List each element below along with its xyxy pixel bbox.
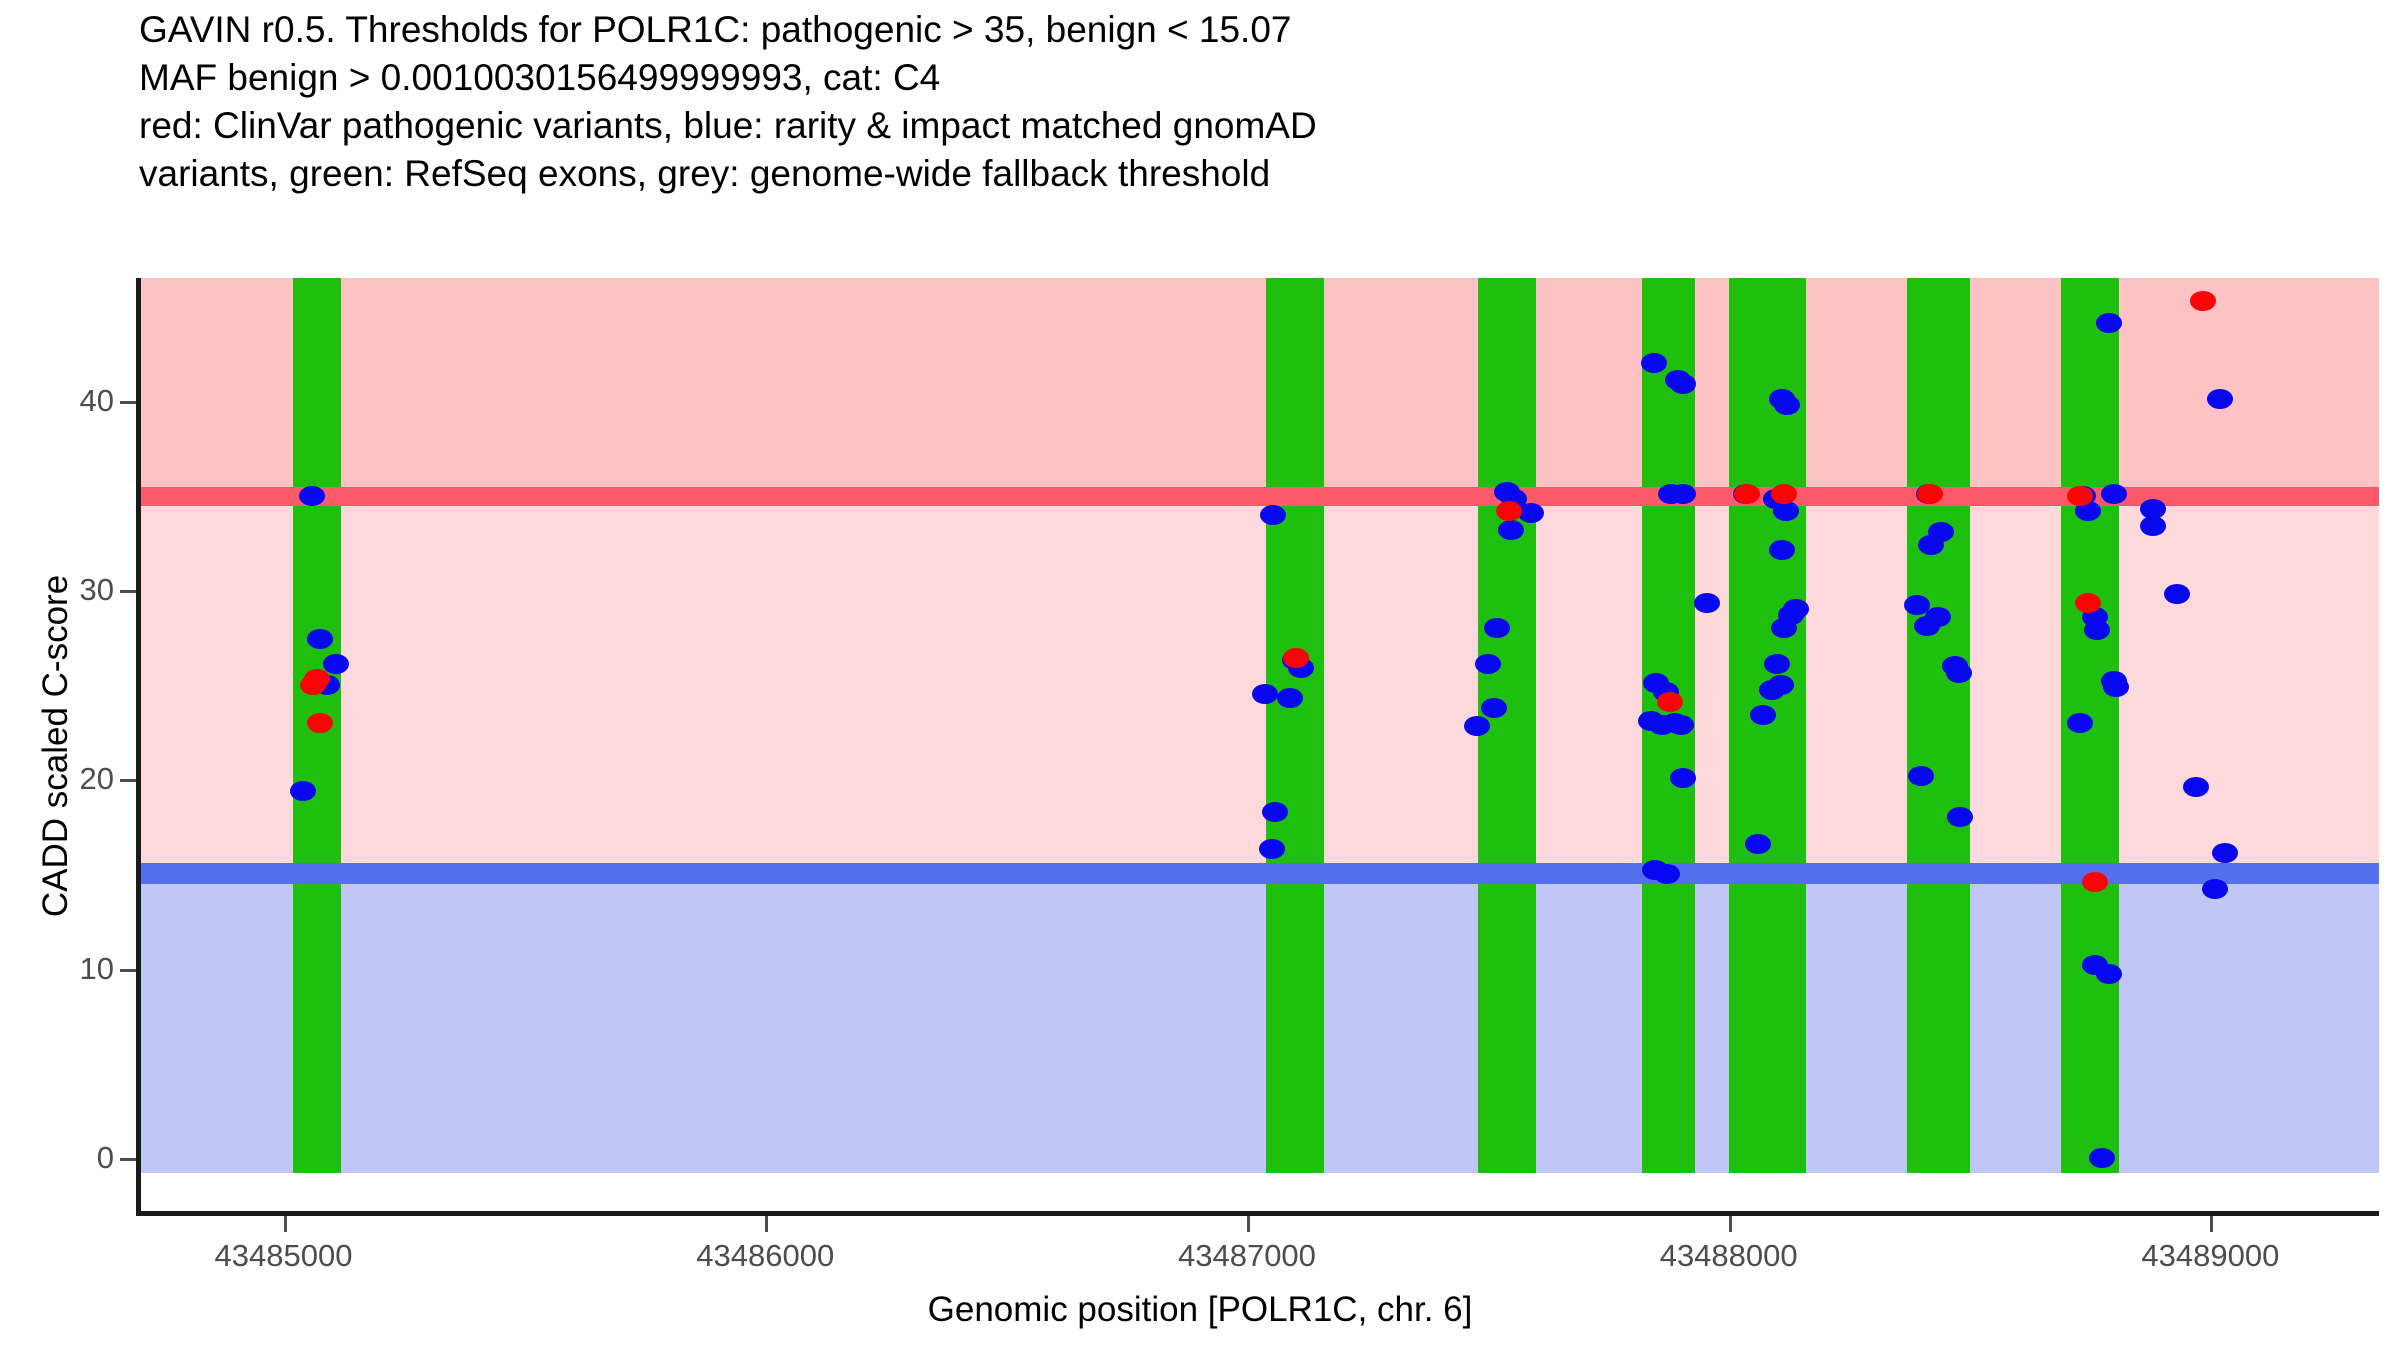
gnomad-variant-point [307, 629, 333, 649]
x-axis-title: Genomic position [POLR1C, chr. 6] [0, 1290, 2400, 1330]
clinvar-pathogenic-point [1734, 484, 1760, 504]
benign-threshold-line [139, 863, 2379, 884]
clinvar-pathogenic-point [2067, 486, 2093, 506]
x-axis-tick-label: 43488000 [1660, 1238, 1798, 1274]
clinvar-pathogenic-point [300, 675, 326, 695]
clinvar-pathogenic-point [2190, 291, 2216, 311]
gnomad-variant-point [2183, 777, 2209, 797]
y-axis-tick-label: 10 [80, 951, 114, 987]
gnomad-variant-point [1475, 654, 1501, 674]
gnomad-variant-point [2212, 843, 2238, 863]
clinvar-pathogenic-point [1771, 484, 1797, 504]
clinvar-pathogenic-point [307, 713, 333, 733]
chart-root: GAVIN r0.5. Thresholds for POLR1C: patho… [0, 0, 2400, 1350]
gnomad-variant-point [2164, 584, 2190, 604]
y-axis-tick-label: 20 [80, 761, 114, 797]
exon-band [1266, 278, 1324, 1173]
gnomad-variant-point [1481, 698, 1507, 718]
gnomad-variant-point [1908, 766, 1934, 786]
y-axis-tick [120, 1158, 136, 1161]
clinvar-pathogenic-point [2082, 872, 2108, 892]
x-axis-tick-label: 43489000 [2141, 1238, 2279, 1274]
gnomad-variant-point [2207, 389, 2233, 409]
x-axis-tick [1729, 1216, 1732, 1232]
gnomad-variant-point [1745, 834, 1771, 854]
y-axis-tick [120, 779, 136, 782]
pathogenic-threshold-line [139, 487, 2379, 506]
y-axis-tick [120, 401, 136, 404]
gnomad-variant-point [1764, 654, 1790, 674]
x-axis-tick-label: 43486000 [696, 1238, 834, 1274]
x-axis-tick-label: 43487000 [1178, 1238, 1316, 1274]
gnomad-variant-point [1654, 864, 1680, 884]
gnomad-variant-point [2103, 677, 2129, 697]
y-axis-tick-label: 0 [97, 1140, 114, 1176]
gnomad-variant-point [2089, 1148, 2115, 1168]
chart-title: GAVIN r0.5. Thresholds for POLR1C: patho… [139, 6, 2139, 198]
gnomad-variant-point [1670, 484, 1696, 504]
gnomad-variant-point [1773, 501, 1799, 521]
clinvar-pathogenic-point [2075, 593, 2101, 613]
plot-panel [139, 278, 2379, 1173]
gnomad-variant-point [1774, 395, 1800, 415]
gnomad-variant-point [1771, 618, 1797, 638]
y-axis-tick [120, 969, 136, 972]
gnomad-variant-point [2084, 620, 2110, 640]
title-line-1: GAVIN r0.5. Thresholds for POLR1C: patho… [139, 6, 2139, 54]
gnomad-variant-point [299, 486, 325, 506]
y-axis-tick-label: 40 [80, 383, 114, 419]
y-axis-title: CADD scaled C-score [36, 276, 76, 1216]
gnomad-variant-point [2140, 516, 2166, 536]
region-pathogenic [139, 278, 2379, 496]
gnomad-variant-point [1518, 503, 1544, 523]
x-axis-line [139, 1211, 2379, 1216]
gnomad-variant-point [1670, 374, 1696, 394]
title-line-4: variants, green: RefSeq exons, grey: gen… [139, 150, 2139, 198]
y-axis-line [136, 278, 141, 1216]
y-axis-tick [120, 590, 136, 593]
title-line-2: MAF benign > 0.0010030156499999993, cat:… [139, 54, 2139, 102]
gnomad-variant-point [1260, 505, 1286, 525]
gnomad-variant-point [2067, 713, 2093, 733]
gnomad-variant-point [2101, 484, 2127, 504]
x-axis-tick [2210, 1216, 2213, 1232]
x-axis-tick [765, 1216, 768, 1232]
gnomad-variant-point [1498, 520, 1524, 540]
x-axis-tick [1247, 1216, 1250, 1232]
x-axis-tick [284, 1216, 287, 1232]
y-axis-tick-label: 30 [80, 572, 114, 608]
gnomad-variant-point [1918, 535, 1944, 555]
gnomad-variant-point [290, 781, 316, 801]
gnomad-variant-point [323, 654, 349, 674]
x-axis-tick-label: 43485000 [215, 1238, 353, 1274]
region-benign [139, 873, 2379, 1173]
gnomad-variant-point [1670, 768, 1696, 788]
gnomad-variant-point [1641, 353, 1667, 373]
clinvar-pathogenic-point [1917, 484, 1943, 504]
exon-band [1907, 278, 1970, 1173]
clinvar-pathogenic-point [1657, 692, 1683, 712]
title-line-3: red: ClinVar pathogenic variants, blue: … [139, 102, 2139, 150]
clinvar-pathogenic-point [1496, 501, 1522, 521]
gnomad-variant-point [1262, 802, 1288, 822]
gnomad-variant-point [1668, 715, 1694, 735]
